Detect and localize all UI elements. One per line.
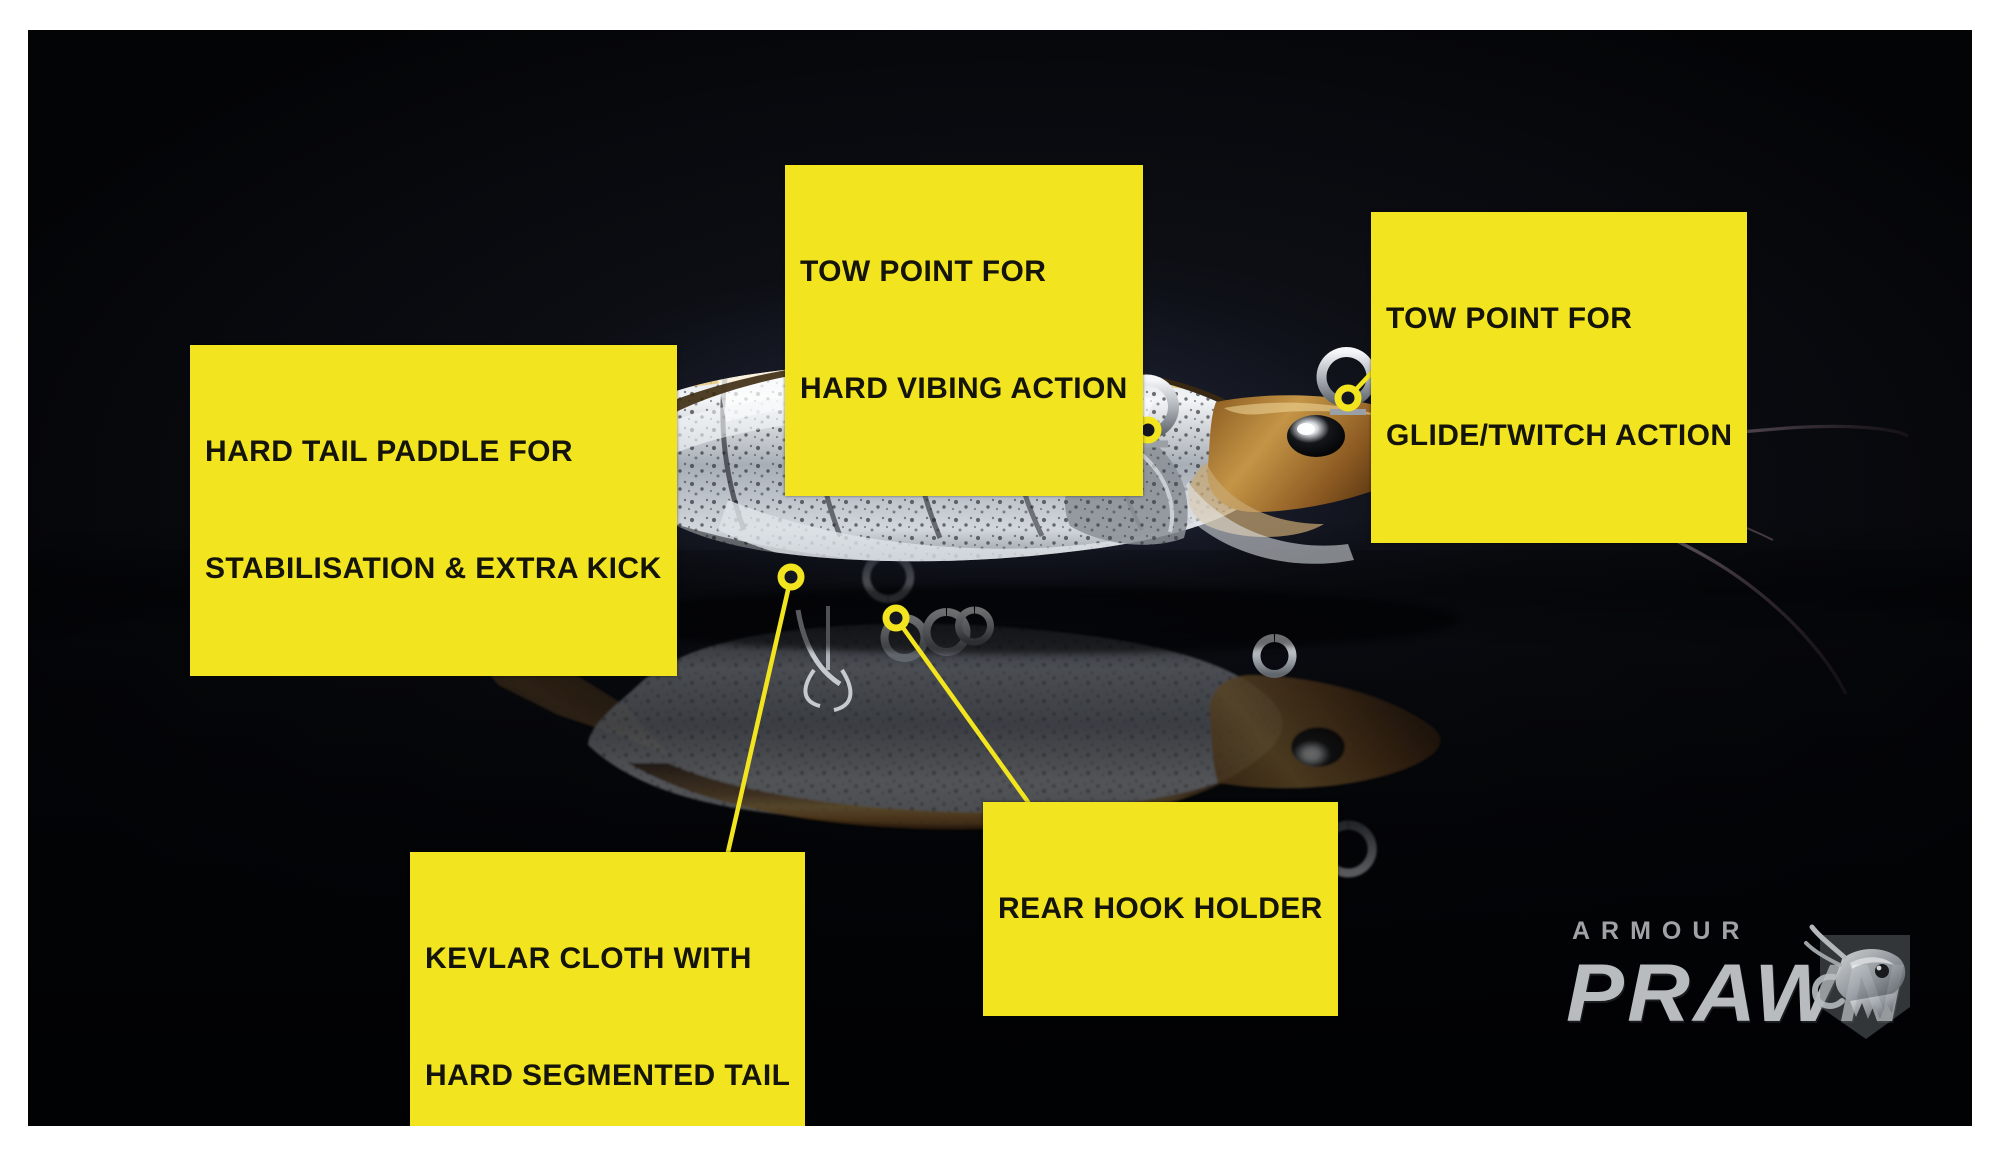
prawn-head-crest-icon bbox=[1790, 913, 1930, 1053]
callout-kevlar-cloth-segmented-tail: KEVLAR CLOTH WITH HARD SEGMENTED TAIL bbox=[410, 852, 805, 1126]
product-photo-panel: TOW POINT FOR HARD VIBING ACTION TOW POI… bbox=[28, 30, 1972, 1126]
callout-hard-tail-paddle: HARD TAIL PADDLE FOR STABILISATION & EXT… bbox=[190, 345, 677, 676]
callout-tow-point-hard-vibing: TOW POINT FOR HARD VIBING ACTION bbox=[785, 165, 1143, 496]
callout-line-1: REAR HOOK HOLDER bbox=[998, 889, 1323, 928]
callout-line-2: STABILISATION & EXTRA KICK bbox=[205, 549, 662, 588]
callout-line-1: KEVLAR CLOTH WITH bbox=[425, 939, 790, 978]
callout-tow-point-glide-twitch: TOW POINT FOR GLIDE/TWITCH ACTION bbox=[1371, 212, 1747, 543]
brand-top-word: ARMOUR bbox=[1572, 917, 1751, 946]
callout-line-2: HARD SEGMENTED TAIL bbox=[425, 1056, 790, 1095]
callout-line-1: TOW POINT FOR bbox=[1386, 299, 1732, 338]
callout-line-1: HARD TAIL PADDLE FOR bbox=[205, 432, 662, 471]
callout-line-2: GLIDE/TWITCH ACTION bbox=[1386, 416, 1732, 455]
page-root: TOW POINT FOR HARD VIBING ACTION TOW POI… bbox=[0, 0, 2000, 1163]
callout-line-1: TOW POINT FOR bbox=[800, 252, 1128, 291]
callout-line-2: HARD VIBING ACTION bbox=[800, 369, 1128, 408]
callout-rear-hook-holder: REAR HOOK HOLDER bbox=[983, 802, 1338, 1016]
brand-logo: ARMOUR PRAWN bbox=[1564, 911, 1924, 1056]
